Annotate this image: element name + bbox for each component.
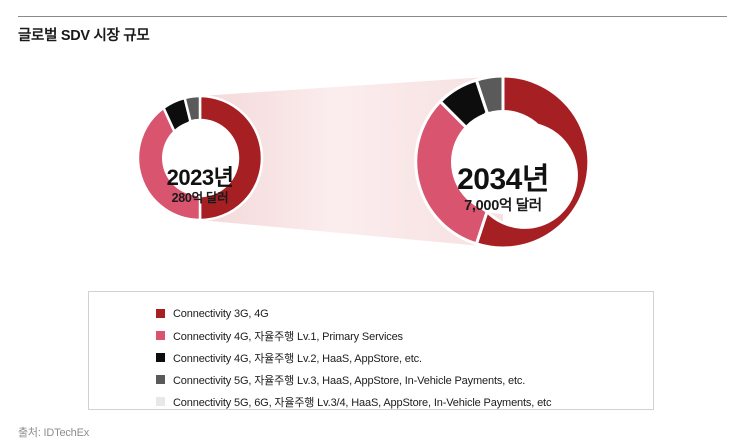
legend-item-connectivity-4g-lv2[interactable]: Connectivity 4G, 자율주행 Lv.2, HaaS, AppSto… [156,347,551,368]
source-attribution: 출처: IDTechEx [18,424,89,440]
legend-list: Connectivity 3G, 4G Connectivity 4G, 자율주… [156,303,551,413]
legend-item-label: Connectivity 4G, 자율주행 Lv.2, HaaS, AppSto… [173,350,422,366]
donut-2034-hole [451,110,555,214]
legend-swatch-icon [156,375,165,384]
legend-swatch-icon [156,331,165,340]
legend-item-connectivity-4g-lv1[interactable]: Connectivity 4G, 자율주행 Lv.1, Primary Serv… [156,325,551,346]
legend-swatch-icon [156,353,165,362]
header-divider [18,16,727,17]
donut-2023 [138,96,262,220]
donut-2034 [416,76,589,248]
legend-item-connectivity-3g-4g[interactable]: Connectivity 3G, 4G [156,303,551,324]
legend-box: Connectivity 3G, 4G Connectivity 4G, 자율주… [88,291,654,410]
donut-chart-area: 2023년 280억 달러 2034년 7,000억 달러 [0,40,745,280]
legend-swatch-icon [156,309,165,318]
legend-item-connectivity-5g-lv3[interactable]: Connectivity 5G, 자율주행 Lv.3, HaaS, AppSto… [156,369,551,390]
legend-swatch-icon [156,397,165,406]
legend-item-connectivity-5g-6g-lv34[interactable]: Connectivity 5G, 6G, 자율주행 Lv.3/4, HaaS, … [156,391,551,412]
donut-2023-hole [162,120,238,196]
legend-item-label: Connectivity 5G, 자율주행 Lv.3, HaaS, AppSto… [173,372,525,388]
legend-item-label: Connectivity 5G, 6G, 자율주행 Lv.3/4, HaaS, … [173,394,551,410]
legend-item-label: Connectivity 3G, 4G [173,308,269,320]
donut-chart-svg [0,40,745,280]
legend-item-label: Connectivity 4G, 자율주행 Lv.1, Primary Serv… [173,328,403,344]
